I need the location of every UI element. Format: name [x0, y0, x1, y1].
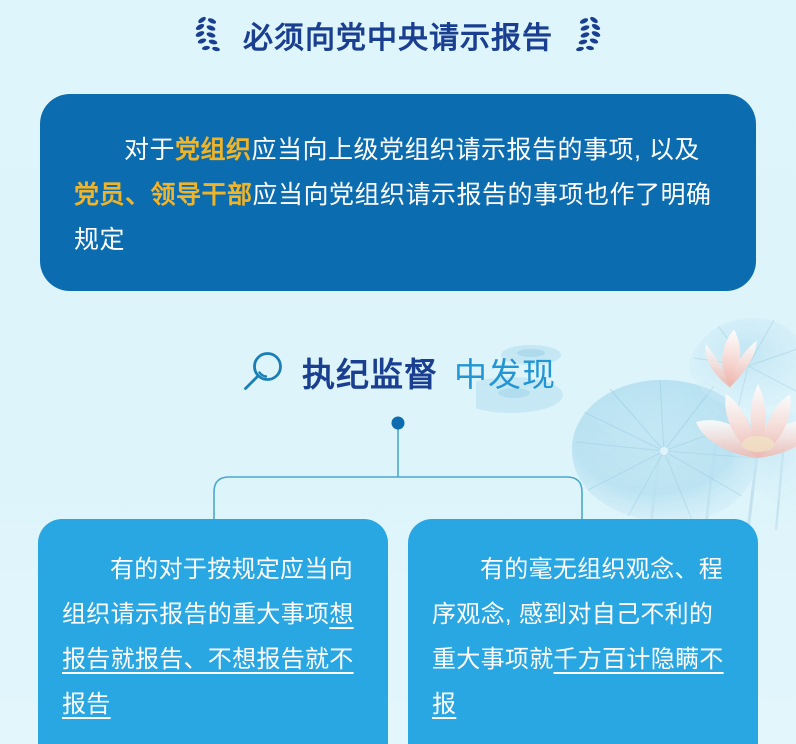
finding-card-right: 有的毫无组织观念、程序观念, 感到对自己不利的重大事项就千方百计隐瞒不报 — [408, 519, 758, 744]
statement-part-highlight: 党组织 — [175, 136, 252, 164]
finding-plain-left: 有的对于按规定应当向组织请示报告的重大事项 — [62, 556, 353, 628]
infographic-page: 必须向党中央请示报告 对于党组织应当向上级党组织请示报告的事项, 以及党员、领导… — [0, 0, 796, 744]
finding-card-left: 有的对于按规定应当向组织请示报告的重大事项想报告就报告、不想报告就不报告 — [38, 519, 388, 744]
statement-part-plain: 对于 — [124, 136, 175, 164]
statement-part-highlight: 党员、领导干部 — [74, 181, 253, 209]
statement-part-plain: 应当向上级党组织请示报告的事项, 以及 — [252, 136, 700, 164]
finding-text-left: 有的对于按规定应当向组织请示报告的重大事项想报告就报告、不想报告就不报告 — [62, 547, 362, 727]
statement-panel: 对于党组织应当向上级党组织请示报告的事项, 以及党员、领导干部应当向党组织请示报… — [40, 94, 756, 291]
magnifier-icon — [240, 349, 286, 395]
connector-node — [392, 417, 405, 430]
section-heading: 执纪监督中发现 — [0, 348, 796, 396]
page-header: 必须向党中央请示报告 — [0, 0, 796, 70]
page-title: 必须向党中央请示报告 — [243, 13, 553, 57]
finding-text-right: 有的毫无组织观念、程序观念, 感到对自己不利的重大事项就千方百计隐瞒不报 — [432, 547, 732, 727]
statement-text: 对于党组织应当向上级党组织请示报告的事项, 以及党员、领导干部应当向党组织请示报… — [74, 128, 720, 263]
laurel-branch-icon — [191, 14, 229, 56]
findings-cards: 有的对于按规定应当向组织请示报告的重大事项想报告就报告、不想报告就不报告 有的毫… — [0, 519, 796, 744]
laurel-branch-icon — [567, 14, 605, 56]
branch-connector — [190, 414, 610, 524]
section-title-light: 中发现 — [454, 348, 556, 396]
section-title-strong: 执纪监督 — [302, 348, 438, 396]
